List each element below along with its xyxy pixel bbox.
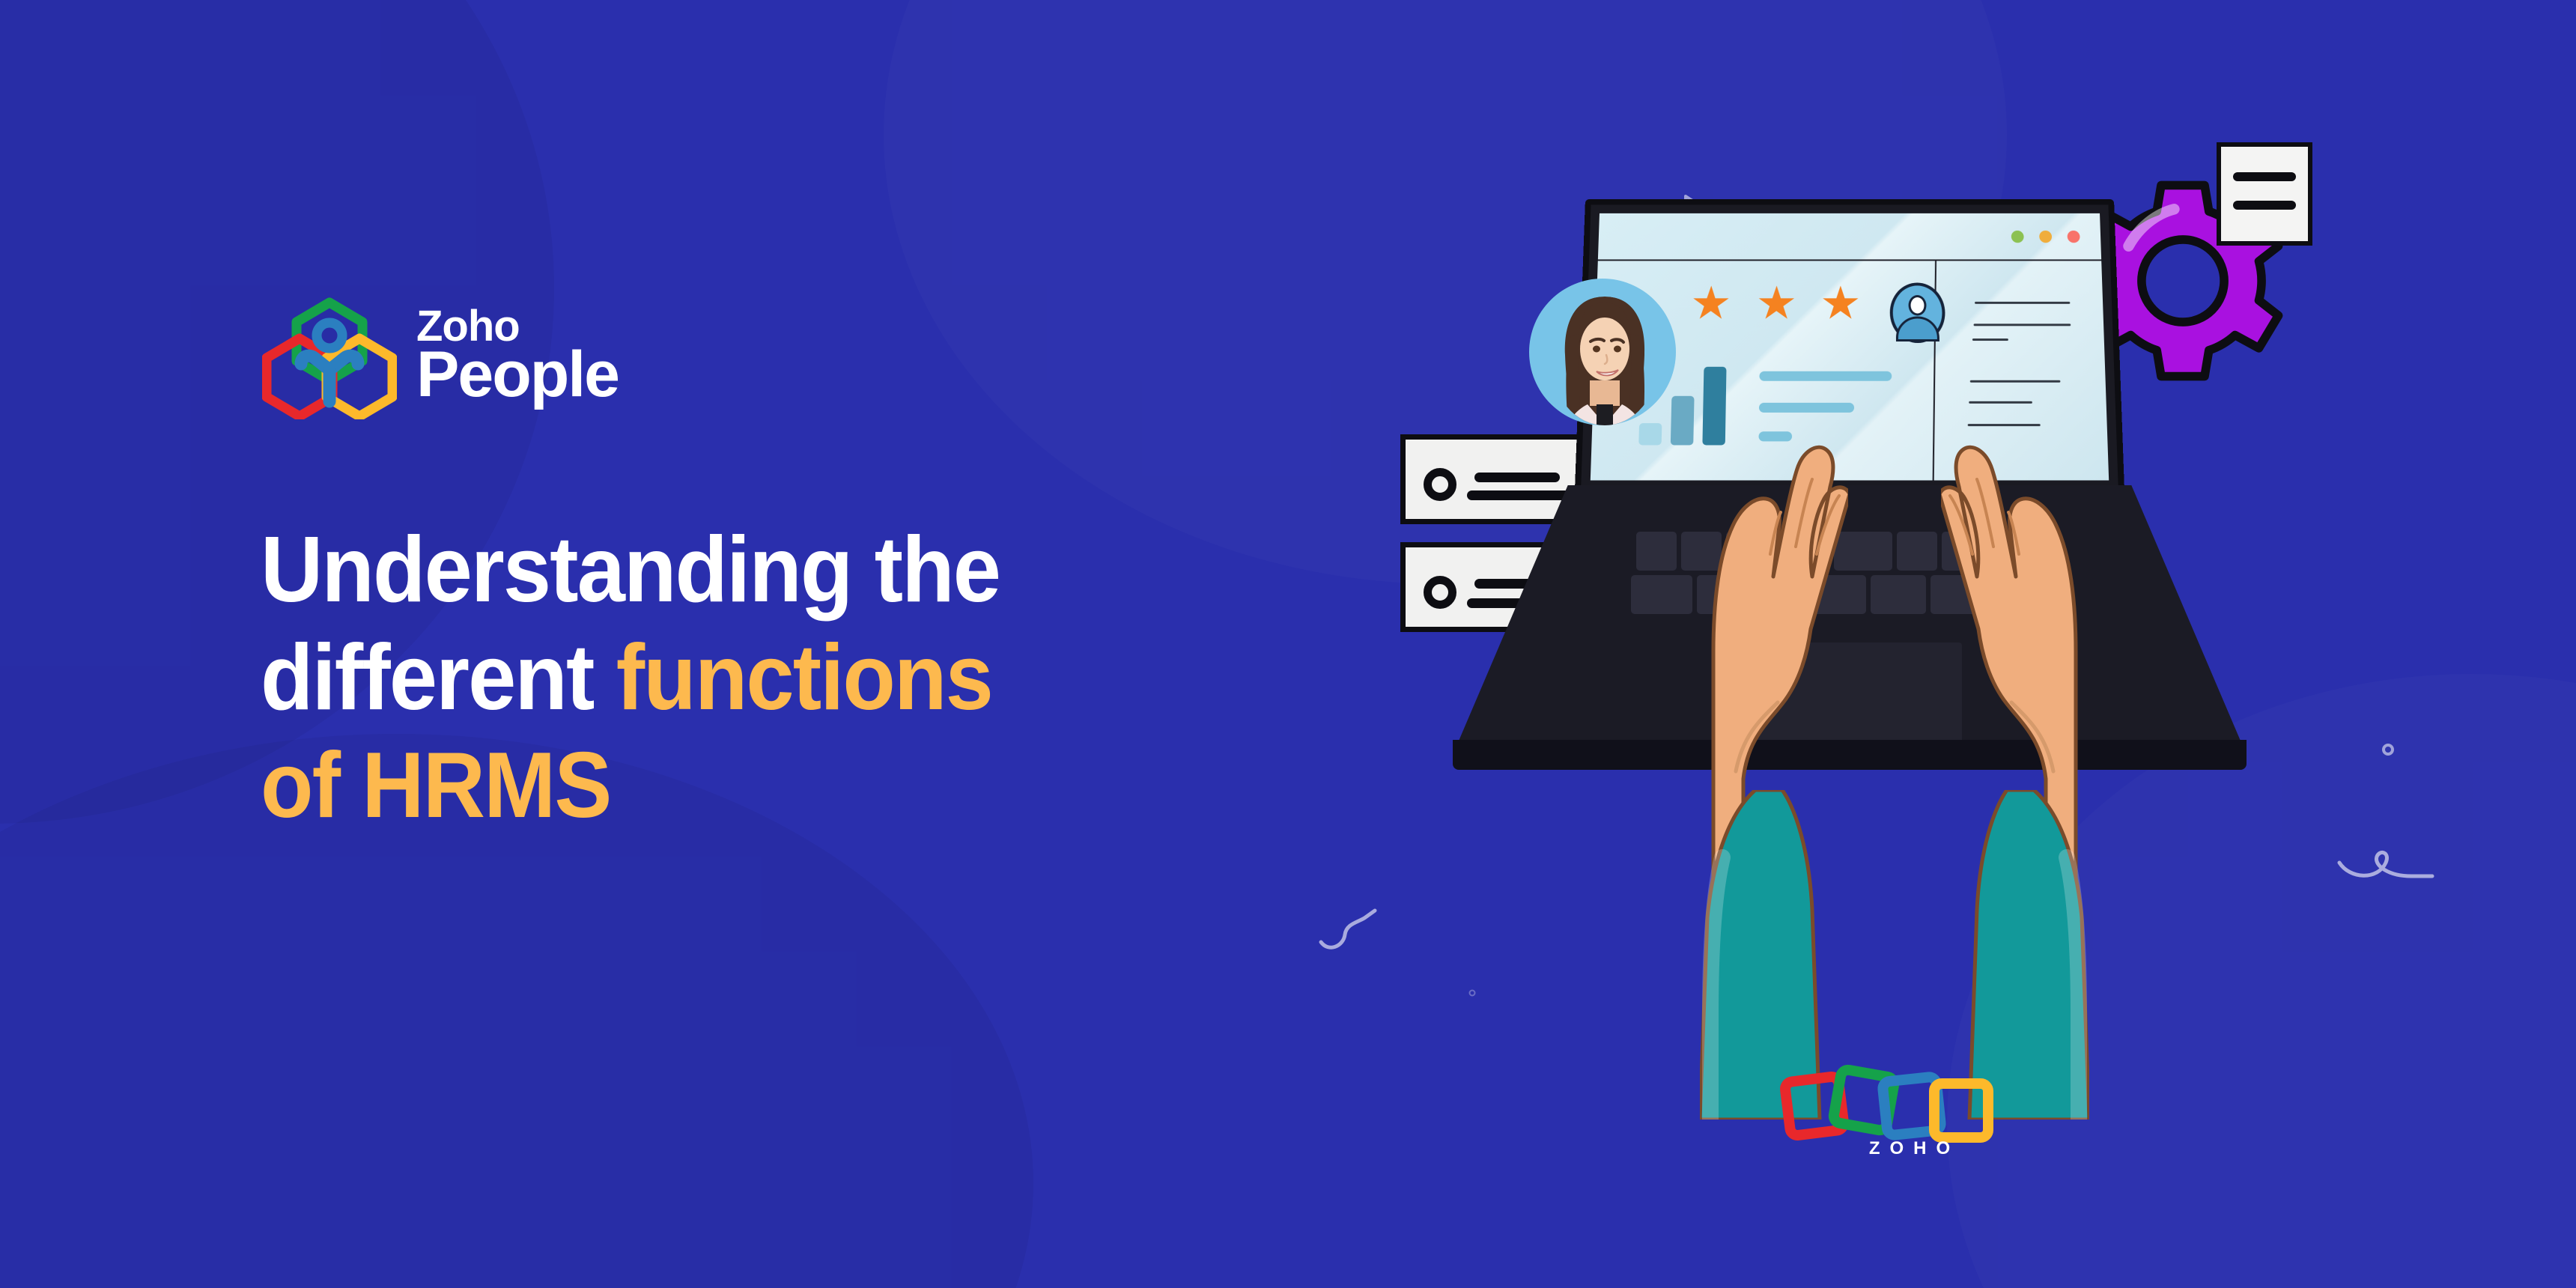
record-avatar-ring-2 bbox=[1424, 576, 1456, 609]
zoho-corporate-logo: ZOHO bbox=[1782, 1063, 2037, 1168]
profile-body bbox=[1896, 317, 1939, 342]
window-dot-red bbox=[2067, 231, 2080, 243]
window-dot-yellow bbox=[2039, 231, 2052, 243]
page-title: Understanding the different functions of… bbox=[261, 517, 1305, 839]
document-line-1 bbox=[2233, 172, 2296, 181]
headline-line-3-accent: of HRMS bbox=[261, 734, 610, 837]
zoho-people-hexagon-logo bbox=[262, 292, 397, 419]
headline-line-2-accent: functions bbox=[616, 626, 992, 729]
record-avatar-ring-1 bbox=[1424, 468, 1456, 501]
avatar-photo bbox=[1549, 292, 1661, 425]
rating-star-2: ★ bbox=[1755, 282, 1797, 327]
panel-line-2 bbox=[1974, 323, 2071, 326]
brand-logo[interactable]: Zoho People bbox=[262, 292, 619, 419]
panel-line-1 bbox=[1975, 302, 2070, 304]
profile-head bbox=[1908, 295, 1926, 315]
headline-line-1: Understanding the bbox=[261, 518, 1000, 622]
zoho-square-yellow bbox=[1929, 1078, 1993, 1143]
brand-wordmark: Zoho People bbox=[416, 306, 619, 404]
employee-photo-avatar bbox=[1529, 279, 1676, 425]
rating-star-3: ★ bbox=[1820, 282, 1861, 327]
brand-name-people: People bbox=[416, 344, 619, 405]
keyboard-key bbox=[1897, 532, 1937, 571]
keyboard-key bbox=[1871, 575, 1926, 614]
headline-line-2-white: different bbox=[261, 626, 616, 729]
hero-illustration: ★ ★ ★ bbox=[1363, 112, 2576, 1288]
window-dot-green bbox=[2011, 231, 2024, 243]
user-profile-icon bbox=[1890, 283, 1945, 344]
banner-root: Zoho People Understanding the different … bbox=[0, 0, 2576, 1288]
screen-window-bar bbox=[1598, 213, 2101, 261]
rating-star-1: ★ bbox=[1690, 282, 1732, 327]
zoho-wordmark: ZOHO bbox=[1782, 1138, 2037, 1159]
